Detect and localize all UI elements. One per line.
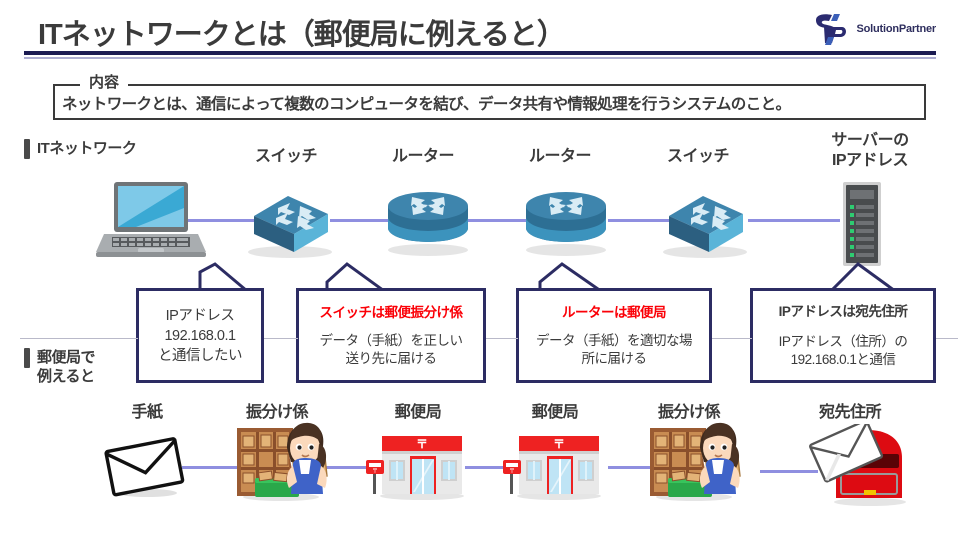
mailbox-icon (808, 424, 918, 511)
callout-box-2: スイッチは郵便振分け係 データ（手紙）を正しい 送り先に届ける (296, 288, 486, 383)
callout-3-line-2: 所に届ける (582, 350, 647, 368)
device-label-server-line2: IPアドレス (800, 151, 940, 171)
page-title: ITネットワークとは（郵便局に例えると） (38, 11, 565, 53)
section-divider-seg-3 (712, 338, 752, 339)
sp-logo-icon (810, 12, 850, 46)
postal-mark-text: 〒 (416, 437, 428, 451)
device-label-router-1: ルーター (368, 147, 478, 167)
device-label-router-2: ルーター (505, 147, 615, 167)
link-switch2-server (748, 219, 840, 222)
laptop-icon (96, 182, 206, 263)
callout-2-header: スイッチは郵便振分け係 (320, 304, 463, 322)
callout-1-line-3: と通信したい (158, 346, 242, 366)
callout-1-line-2: 192.168.0.1 (164, 326, 235, 346)
envelope-icon (103, 437, 187, 504)
section-accent-bar (24, 139, 30, 159)
section-label-it-network: ITネットワーク (24, 139, 136, 159)
router-icon (382, 184, 474, 263)
section-divider-seg-2 (486, 338, 518, 339)
section-label-postal-text: 郵便局で 例えると (37, 348, 95, 386)
callout-box-4: IPアドレスは宛先住所 IPアドレス（住所）の 192.168.0.1と通信 (750, 288, 936, 383)
header-rule-thin (24, 57, 936, 59)
section-label-postal-line2: 例えると (37, 367, 95, 386)
section-label-postal-line1: 郵便局で (37, 348, 95, 367)
section-divider-left (20, 338, 138, 339)
callout-2-line-2: 送り先に届ける (346, 350, 437, 368)
slide-root: ITネットワークとは（郵便局に例えると） SolutionPartner 内容 … (0, 0, 960, 540)
mail-sorter-icon (233, 418, 329, 507)
callout-3-header: ルーターは郵便局 (562, 304, 666, 322)
brand-logo: SolutionPartner (810, 12, 936, 46)
callout-box-3: ルーターは郵便局 データ（手紙）を適切な場 所に届ける (516, 288, 712, 383)
post-office-building-icon: 〒 〒 (503, 434, 607, 505)
post-office-building-icon: 〒 〒 (366, 434, 470, 505)
callout-4-line-2: 192.168.0.1と通信 (791, 351, 896, 369)
section-divider-seg-1 (264, 338, 298, 339)
device-label-server: サーバーの IPアドレス (800, 131, 940, 171)
section-accent-bar (24, 348, 30, 368)
svg-text:〒: 〒 (372, 468, 378, 475)
device-label-switch-1: スイッチ (231, 147, 341, 167)
link-letter-sorter1 (182, 466, 240, 469)
server-icon (841, 182, 883, 273)
section-divider-right (936, 338, 958, 339)
device-label-server-line1: サーバーの (800, 131, 940, 151)
section-label-text: ITネットワーク (37, 139, 136, 158)
postal-label-postoffice-2: 郵便局 (500, 403, 610, 423)
svg-text:〒: 〒 (553, 437, 565, 451)
svg-text:〒: 〒 (509, 468, 515, 475)
callout-2-line-1: データ（手紙）を正しい (320, 332, 463, 350)
section-label-postal: 郵便局で 例えると (24, 348, 95, 386)
header-rule-thick (24, 51, 936, 55)
callout-4-header: IPアドレスは宛先住所 (779, 303, 908, 321)
postal-label-letter: 手紙 (92, 403, 202, 423)
content-box-text: ネットワークとは、通信によって複数のコンピュータを結び、データ共有や情報処理を行… (62, 92, 922, 114)
postal-label-postoffice-1: 郵便局 (363, 403, 473, 423)
switch-icon (240, 180, 336, 265)
callout-4-line-1: IPアドレス（住所）の (779, 333, 908, 351)
mail-sorter-icon (646, 418, 742, 507)
callout-1-line-1: IPアドレス (166, 306, 235, 326)
device-label-switch-2: スイッチ (643, 147, 753, 167)
brand-logo-text: SolutionPartner (856, 23, 936, 35)
callout-box-1: IPアドレス 192.168.0.1 と通信したい (136, 288, 264, 383)
postal-label-address: 宛先住所 (790, 403, 910, 423)
content-box-legend: 内容 (80, 74, 128, 92)
switch-icon (655, 180, 751, 265)
router-icon (520, 184, 612, 263)
callout-3-line-1: データ（手紙）を適切な場 (536, 332, 692, 350)
